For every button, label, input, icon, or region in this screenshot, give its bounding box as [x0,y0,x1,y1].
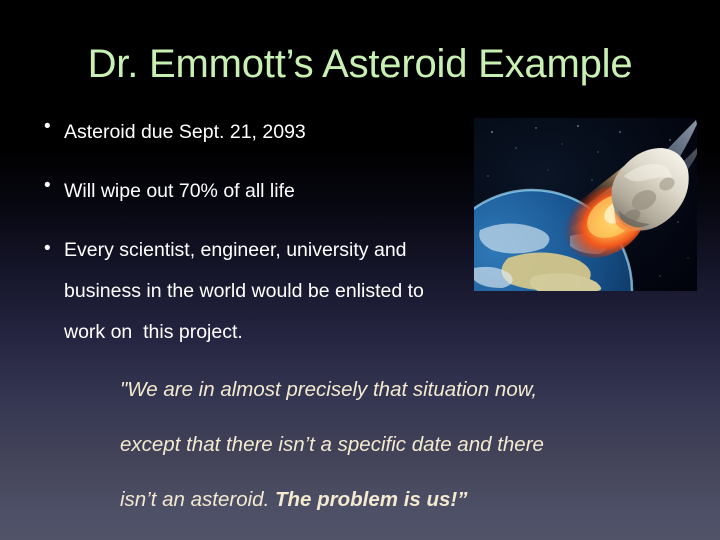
presentation-slide: Dr. Emmott’s Asteroid Example • Asteroid… [0,0,720,540]
bullet-marker-icon: • [38,171,64,201]
bullet-list: • Asteroid due Sept. 21, 2093 • Will wip… [38,112,468,371]
quote-line-1: "We are in almost precisely that situati… [120,362,710,417]
list-item-label: Every scientist, engineer, university an… [64,230,468,353]
list-item-label: Will wipe out 70% of all life [64,171,468,212]
asteroid-image [474,118,697,291]
quote-line-3-plain: isn’t an asteroid. [120,488,275,511]
bullet-marker-icon: • [38,230,64,268]
list-item: • Every scientist, engineer, university … [38,230,468,353]
bullet-marker-icon: • [38,112,64,142]
quote-line-2: except that there isn’t a specific date … [120,417,710,472]
quote-emphasis: The problem is us!” [275,488,468,511]
quote-line-3: isn’t an asteroid. The problem is us!” [120,472,710,527]
list-item-label: Asteroid due Sept. 21, 2093 [64,112,468,153]
asteroid-illustration-icon [474,118,697,291]
quote-block: "We are in almost precisely that situati… [120,362,710,527]
page-title: Dr. Emmott’s Asteroid Example [0,42,720,87]
list-item: • Asteroid due Sept. 21, 2093 [38,112,468,153]
list-item: • Will wipe out 70% of all life [38,171,468,212]
